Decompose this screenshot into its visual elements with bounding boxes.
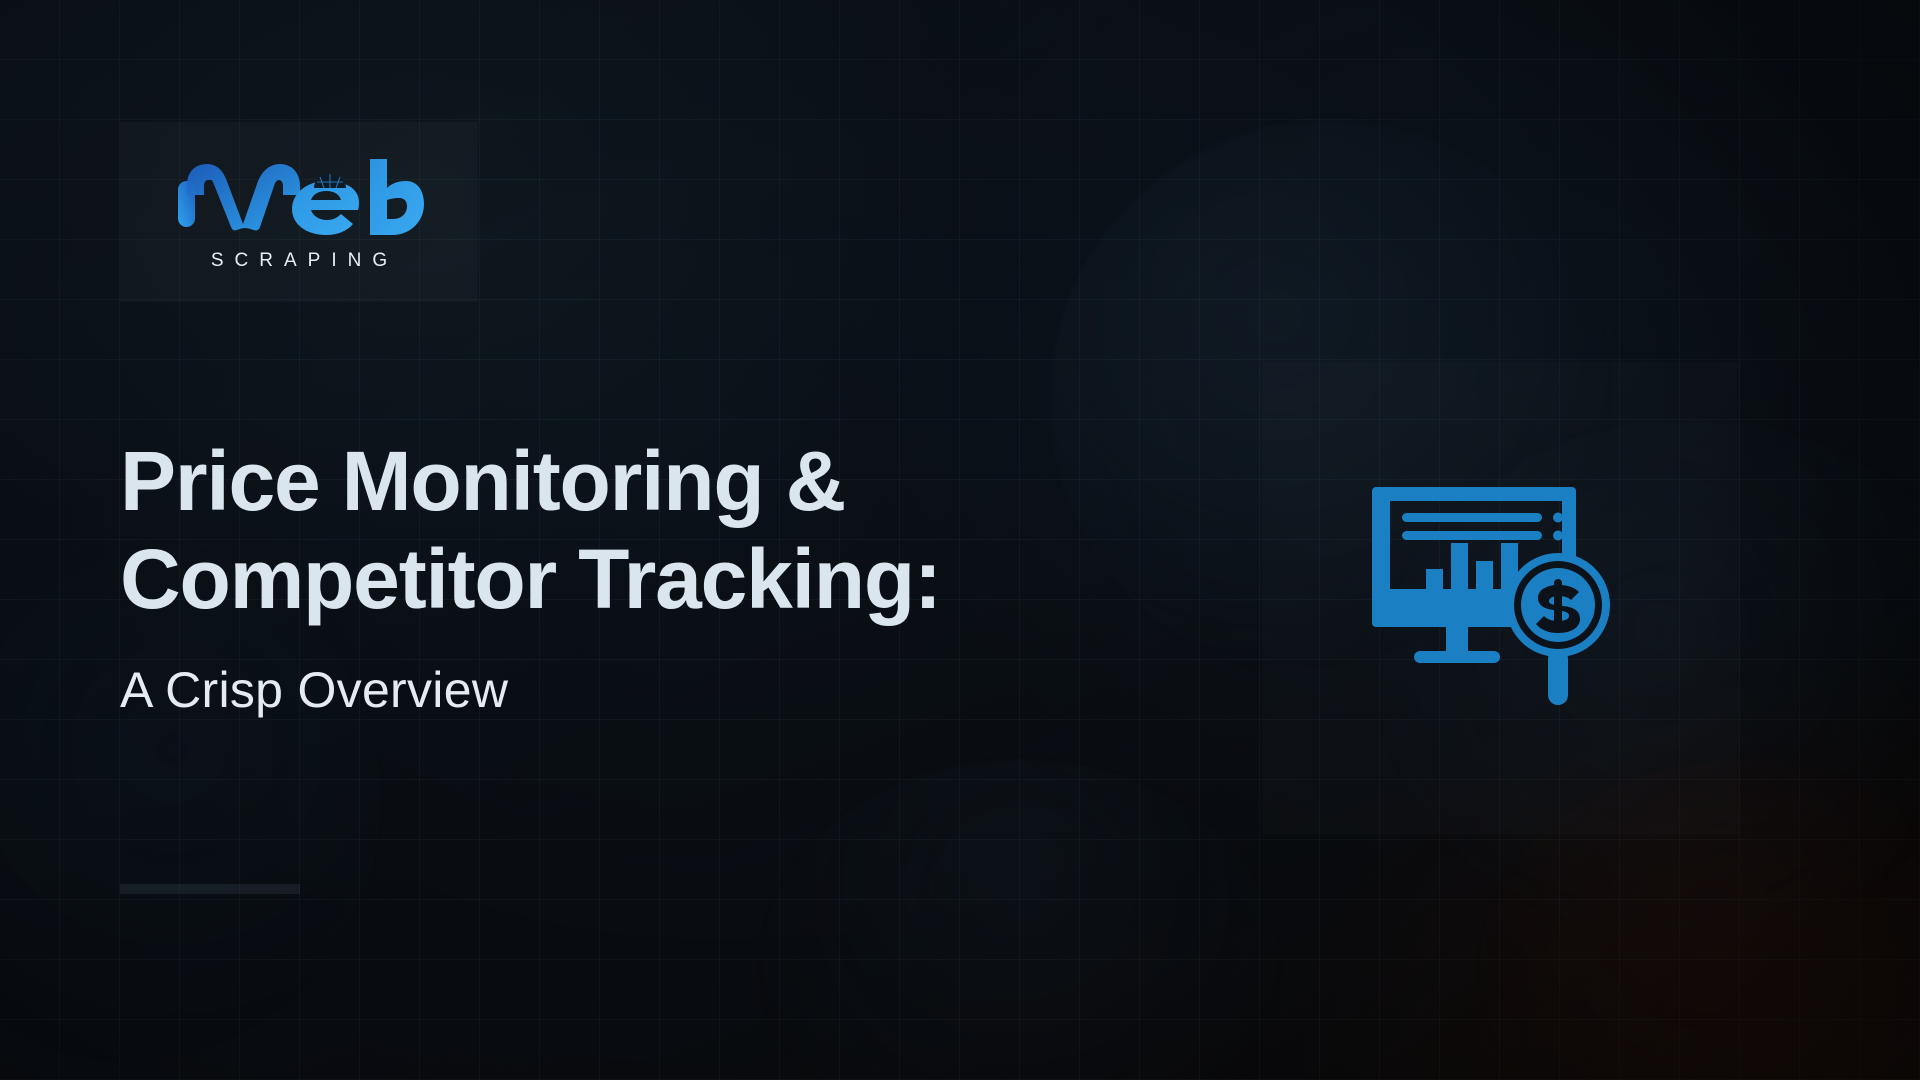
iweb-logo-icon — [174, 155, 424, 239]
title-slide: SCRAPING Price Monitoring & Competitor T… — [0, 0, 1920, 1080]
accent-underline-bar — [120, 884, 300, 894]
brand-wordmark: SCRAPING — [200, 251, 398, 270]
page-title: Price Monitoring & Competitor Tracking: — [120, 432, 1140, 629]
headline-block: Price Monitoring & Competitor Tracking: … — [120, 432, 1140, 718]
title-line-1: Price Monitoring & — [120, 432, 1140, 530]
page-subtitle: A Crisp Overview — [120, 663, 1140, 718]
brand-logo-panel: SCRAPING — [120, 122, 478, 302]
price-monitoring-icon — [1372, 481, 1630, 715]
illustration-panel — [1262, 362, 1740, 834]
title-line-2: Competitor Tracking: — [120, 530, 1140, 628]
